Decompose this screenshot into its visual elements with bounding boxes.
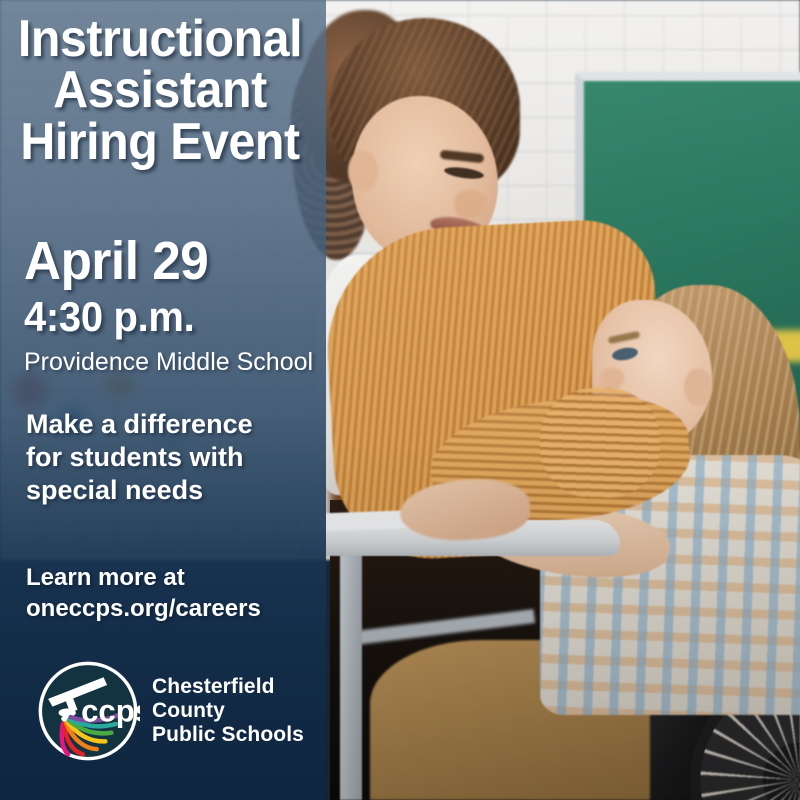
desk-leg [340,550,362,800]
student-ear [684,368,712,406]
call-to-action: Learn more at oneccps.org/careers [26,562,326,624]
ccps-logo: ccps Chesterfield County Public Schools [36,656,316,766]
hiring-event-poster: Instructional Assistant Hiring Event Apr… [0,0,800,800]
logo-word-line-1: Chesterfield [152,675,304,699]
teacher-cuff [540,388,660,498]
teacher-ear [348,150,378,192]
ccps-logo-mark: ccps [36,659,140,763]
logo-wordmark: Chesterfield County Public Schools [152,675,304,747]
page-title: Instructional Assistant Hiring Event [11,14,309,168]
event-date: April 29 [24,234,208,288]
headline-line-1: Instructional [11,14,309,65]
cta-label: Learn more at [26,562,326,593]
logo-word-line-2: County [152,699,304,723]
event-time: 4:30 p.m. [24,296,194,338]
tagline: Make a difference for students with spec… [26,408,316,507]
logo-monogram: ccps [81,693,140,728]
headline-line-2: Assistant [11,65,309,116]
event-venue: Providence Middle School [24,348,313,377]
cta-url[interactable]: oneccps.org/careers [26,593,326,624]
tagline-line-2: for students with [26,441,316,474]
poster-content: Instructional Assistant Hiring Event Apr… [0,0,326,800]
tagline-line-3: special needs [26,474,316,507]
logo-word-line-3: Public Schools [152,723,304,747]
tagline-line-1: Make a difference [26,408,316,441]
headline-line-3: Hiring Event [11,117,309,168]
